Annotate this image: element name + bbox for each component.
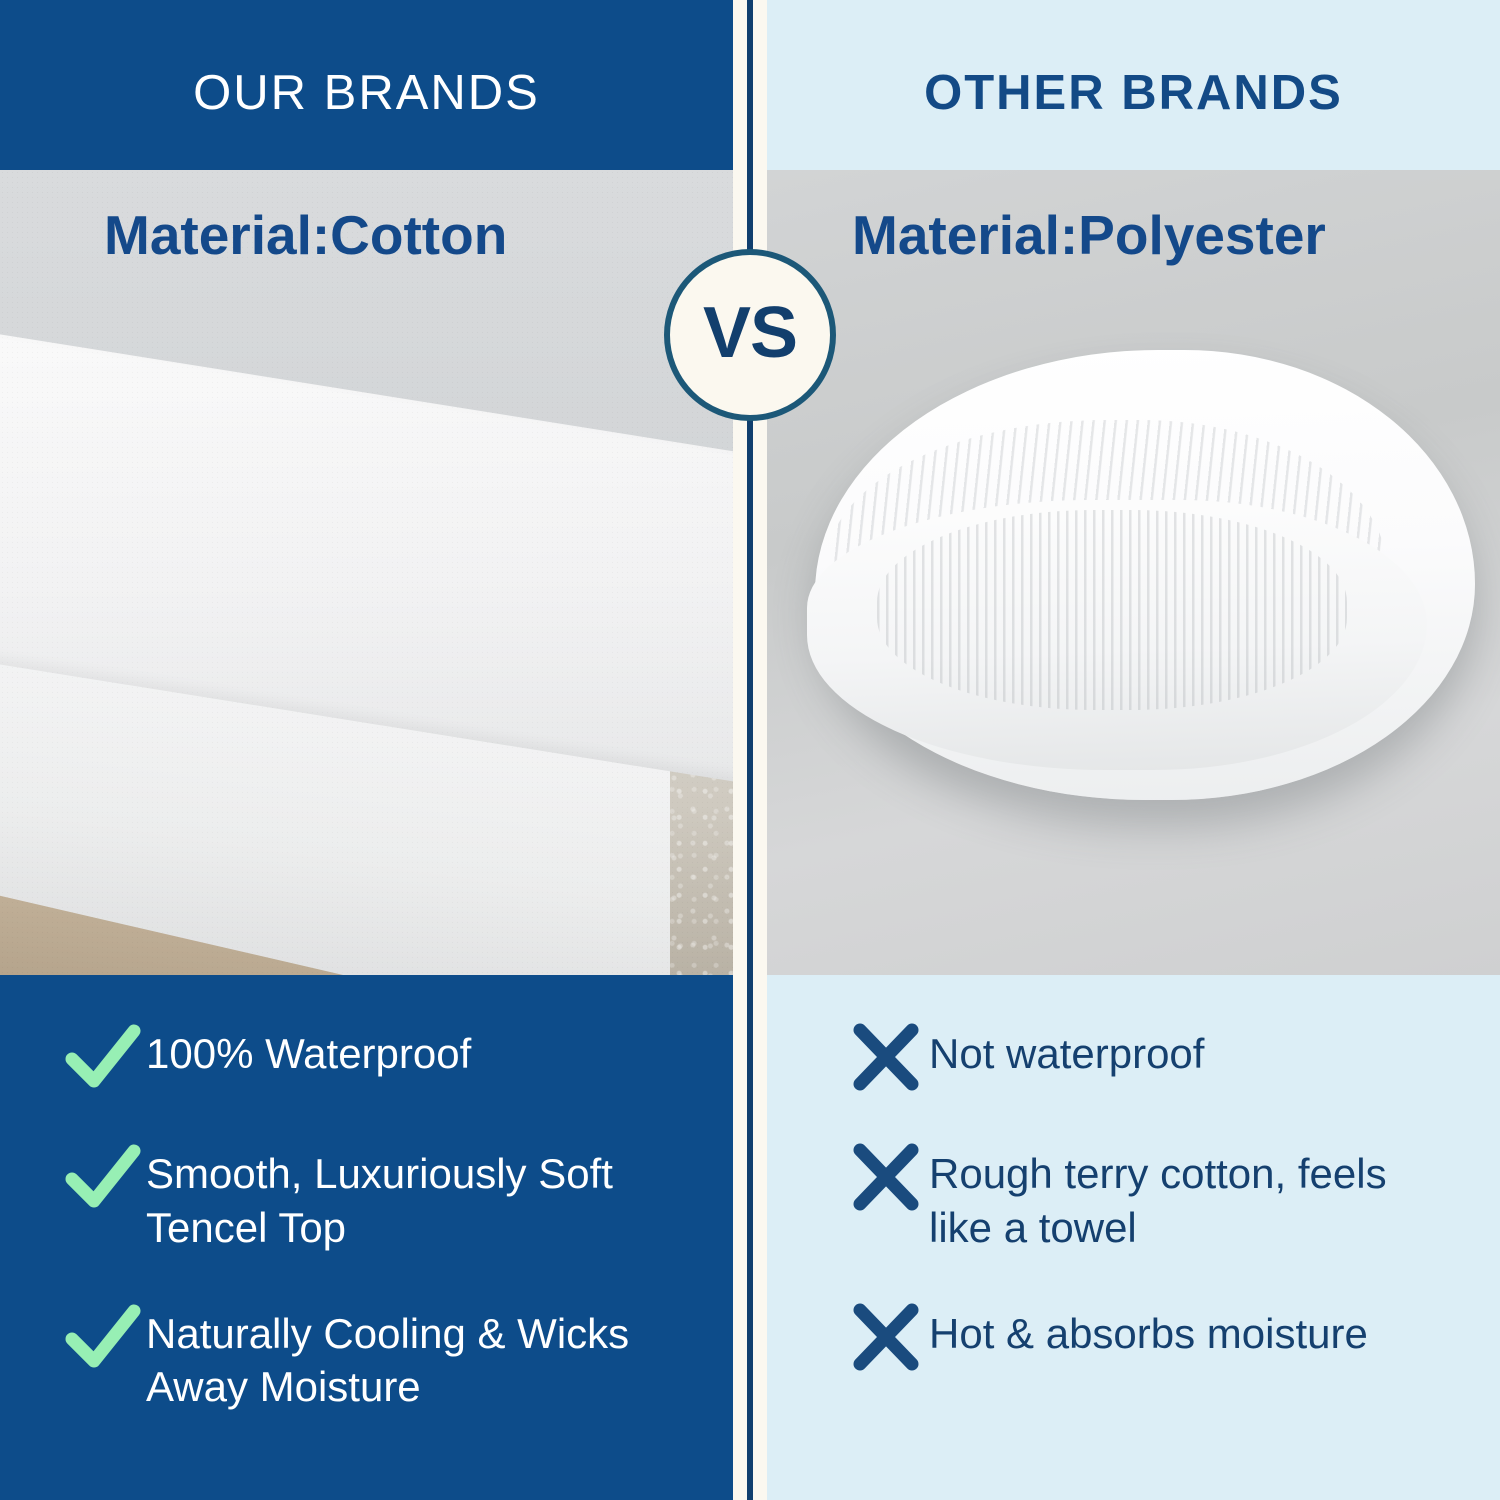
- list-item-label: Naturally Cooling & Wicks Away Moisture: [146, 1299, 693, 1415]
- right-feature-list: Not waterproof Rough terry cotton, feels…: [767, 975, 1500, 1500]
- right-product-photo: [767, 170, 1500, 975]
- check-icon: [60, 1299, 146, 1375]
- list-item-label: Smooth, Luxuriously Soft Tencel Top: [146, 1139, 693, 1255]
- left-feature-list: 100% Waterproof Smooth, Luxuriously Soft…: [0, 975, 733, 1500]
- list-item: Naturally Cooling & Wicks Away Moisture: [60, 1299, 693, 1415]
- left-material-label: Material:Cotton: [104, 208, 507, 263]
- cross-icon: [843, 1139, 929, 1215]
- right-header-title: OTHER BRANDS: [924, 53, 1343, 118]
- panel-divider-line: [747, 0, 753, 1500]
- left-header-band: OUR BRANDS: [0, 0, 733, 170]
- check-icon: [60, 1139, 146, 1215]
- cross-icon: [843, 1019, 929, 1095]
- list-item-label: Rough terry cotton, feels like a towel: [929, 1139, 1460, 1255]
- left-product-photo: [0, 170, 733, 975]
- comparison-infographic: Material:Cotton Material:Polyester OUR B…: [0, 0, 1500, 1500]
- list-item-label: Not waterproof: [929, 1019, 1204, 1081]
- list-item-label: 100% Waterproof: [146, 1019, 471, 1081]
- sheet-ruching-bottom: [877, 510, 1347, 710]
- left-header-title: OUR BRANDS: [193, 53, 540, 118]
- list-item-label: Hot & absorbs moisture: [929, 1299, 1368, 1361]
- list-item: Hot & absorbs moisture: [843, 1299, 1460, 1375]
- list-item: Smooth, Luxuriously Soft Tencel Top: [60, 1139, 693, 1255]
- list-item: Not waterproof: [843, 1019, 1460, 1095]
- check-icon: [60, 1019, 146, 1095]
- list-item: Rough terry cotton, feels like a towel: [843, 1139, 1460, 1255]
- right-material-label: Material:Polyester: [852, 208, 1326, 263]
- right-header-band: OTHER BRANDS: [767, 0, 1500, 170]
- list-item: 100% Waterproof: [60, 1019, 693, 1095]
- vs-label: VS: [703, 297, 797, 373]
- cross-icon: [843, 1299, 929, 1375]
- vs-badge: VS: [664, 249, 836, 421]
